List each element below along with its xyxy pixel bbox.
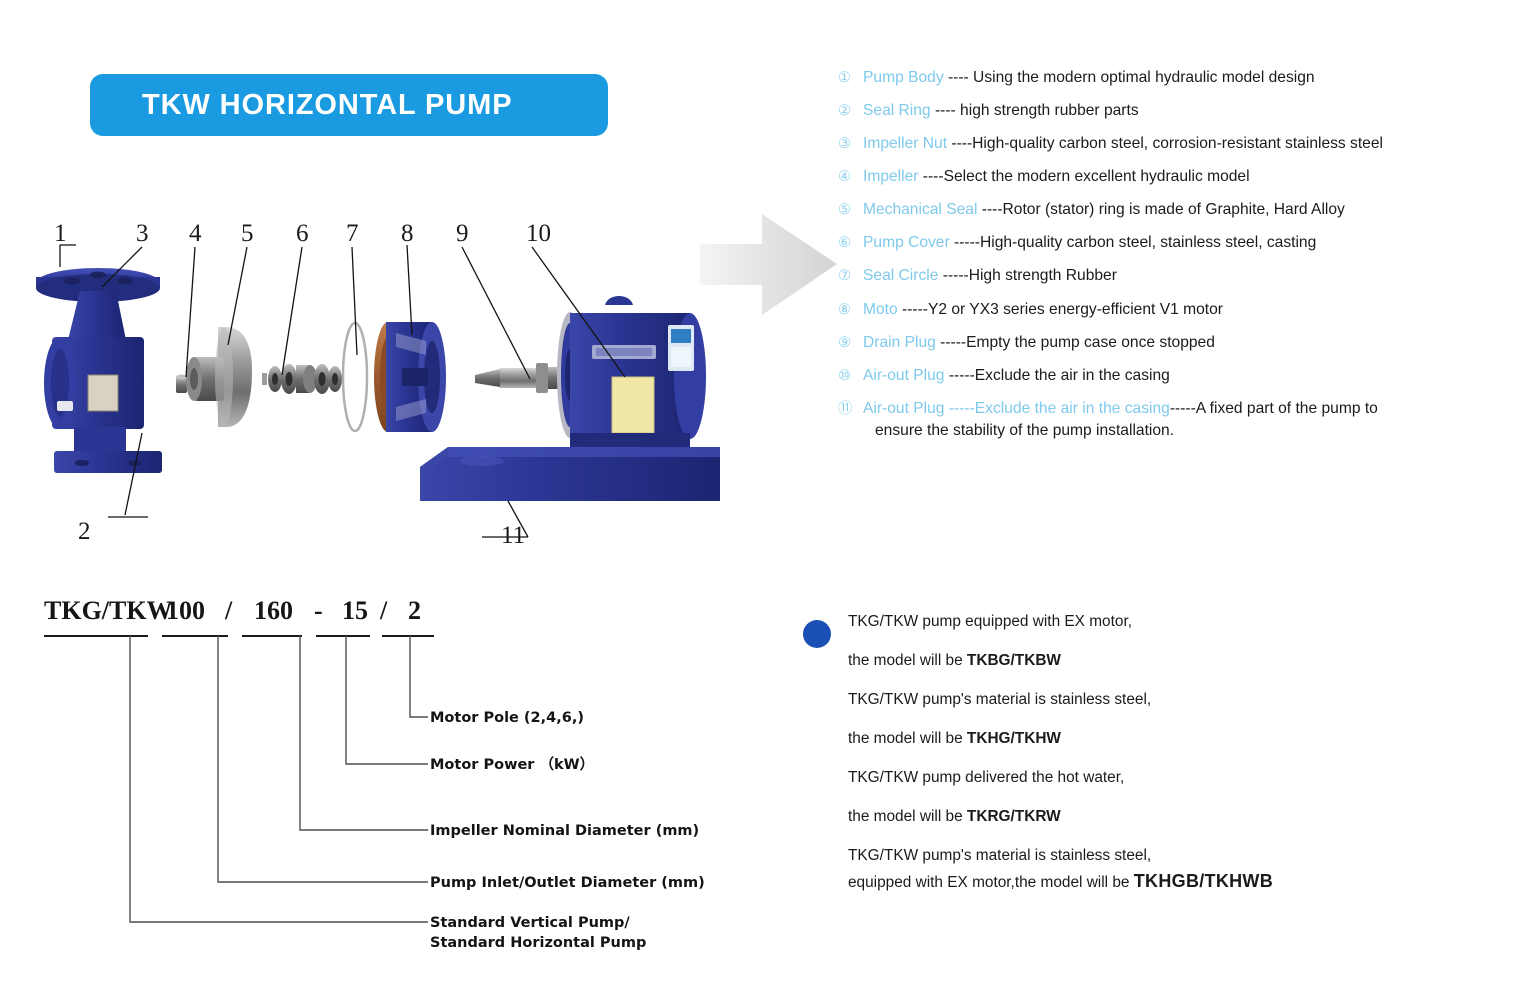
legend-number-1: ① [838,68,863,89]
model-label-impeller-dia: Impeller Nominal Diameter (mm) [430,822,699,841]
legend-part-desc-5: ----Rotor (stator) ring is made of Graph… [977,201,1344,218]
callout-number-5: 5 [241,221,254,246]
shaft-graphic [475,363,568,393]
model-label-motor-power: Motor Power （kW） [430,756,594,775]
legend-number-9: ⑨ [838,333,863,354]
callout-number-7: 7 [346,221,359,246]
model-designation-diagram: TKG/TKW 100 / 160 - 15 / 2 [30,592,730,972]
note-line-3: TKG/TKW pump's material is stainless ste… [848,690,1423,710]
note-model-2: TKBG/TKBW [967,652,1061,669]
legend-part-desc-tinted-11: -----Exclude the air in the casing [944,400,1169,417]
callout-number-3: 3 [136,221,149,246]
pump-body-graphic [36,268,162,473]
callout-number-9: 9 [456,221,469,246]
model-label-inlet-outlet: Pump Inlet/Outlet Diameter (mm) [430,874,705,893]
note-text-7: TKG/TKW pump's material is stainless ste… [848,847,1151,864]
parts-legend-list: ① Pump Body ---- Using the modern optima… [838,68,1498,454]
page-root: TKW HORIZONTAL PUMP [0,0,1513,1000]
legend-part-name-5: Mechanical Seal [863,201,977,218]
impeller-graphic [186,327,252,427]
legend-item-9: ⑨ Drain Plug -----Empty the pump case on… [838,333,1498,354]
legend-item-5: ⑤ Mechanical Seal ----Rotor (stator) rin… [838,200,1498,221]
legend-item-8: ⑧ Moto -----Y2 or YX3 series energy-effi… [838,300,1498,321]
base-plate-graphic [420,447,720,501]
model-label-standard-horizontal: Standard Horizontal Pump [430,934,646,953]
legend-item-7: ⑦ Seal Circle -----High strength Rubber [838,266,1498,287]
legend-number-10: ⑩ [838,366,863,387]
title-banner: TKW HORIZONTAL PUMP [90,74,608,136]
page-title: TKW HORIZONTAL PUMP [90,89,512,122]
pump-illustration [30,205,730,585]
model-variant-notes: TKG/TKW pump equipped with EX motor, the… [803,612,1423,913]
legend-part-name-11: Air-out Plug [863,400,944,417]
note-text-6: the model will be [848,808,967,825]
model-label-motor-pole: Motor Pole (2,4,6,) [430,709,584,728]
note-model-4: TKHG/TKHW [967,730,1061,747]
legend-item-1: ① Pump Body ---- Using the modern optima… [838,68,1498,89]
legend-part-desc-6: -----High-quality carbon steel, stainles… [950,234,1317,251]
right-arrow-icon [700,212,840,317]
legend-item-3: ③ Impeller Nut ----High-quality carbon s… [838,134,1498,155]
note-line-1: TKG/TKW pump equipped with EX motor, [848,612,1423,632]
legend-number-8: ⑧ [838,300,863,321]
legend-part-desc-cont-11: ensure the stability of the pump install… [863,421,1498,442]
callout-number-8: 8 [401,221,414,246]
note-text-4: the model will be [848,730,967,747]
note-text-1: TKG/TKW pump equipped with EX motor, [848,613,1132,630]
callout-number-2: 2 [78,519,91,544]
bullet-dot-icon [803,620,831,648]
note-line-4: the model will be TKHG/TKHW [848,729,1423,749]
callout-number-1: 1 [54,221,67,246]
legend-part-desc-2: ---- high strength rubber parts [931,102,1139,119]
legend-part-name-8: Moto [863,301,898,318]
legend-part-desc-7: -----High strength Rubber [938,267,1117,284]
legend-part-desc-3: ----High-quality carbon steel, corrosion… [947,135,1383,152]
callout-number-4: 4 [189,221,202,246]
legend-number-11: ⑪ [838,399,863,420]
model-label-standard-vertical: Standard Vertical Pump/ [430,914,630,933]
callout-number-11: 11 [501,523,525,548]
note-model-8: TKHGB/TKHWB [1134,871,1273,891]
note-line-7: TKG/TKW pump's material is stainless ste… [848,846,1423,866]
legend-part-name-3: Impeller Nut [863,135,947,152]
legend-item-2: ② Seal Ring ---- high strength rubber pa… [838,101,1498,122]
legend-part-name-9: Drain Plug [863,334,936,351]
legend-number-5: ⑤ [838,200,863,221]
note-line-2: the model will be TKBG/TKBW [848,651,1423,671]
note-model-6: TKRG/TKRW [967,808,1061,825]
legend-part-name-7: Seal Circle [863,267,938,284]
legend-number-6: ⑥ [838,233,863,254]
legend-number-7: ⑦ [838,266,863,287]
legend-part-name-1: Pump Body [863,69,944,86]
legend-part-name-10: Air-out Plug [863,367,944,384]
legend-part-desc-8: -----Y2 or YX3 series energy-efficient V… [898,301,1223,318]
legend-item-11: ⑪ Air-out Plug -----Exclude the air in t… [838,399,1498,442]
note-text-3: TKG/TKW pump's material is stainless ste… [848,691,1151,708]
exploded-pump-diagram: 1 2 3 4 5 6 7 8 9 10 11 [30,205,730,585]
callout-number-6: 6 [296,221,309,246]
legend-item-6: ⑥ Pump Cover -----High-quality carbon st… [838,233,1498,254]
mechanical-seal-graphic [262,364,342,394]
legend-part-desc-11: -----A fixed part of the pump to [1170,400,1378,417]
legend-number-2: ② [838,101,863,122]
legend-item-4: ④ Impeller ----Select the modern excelle… [838,167,1498,188]
callout-number-10: 10 [526,221,551,246]
note-text-2: the model will be [848,652,967,669]
legend-part-desc-9: -----Empty the pump case once stopped [936,334,1215,351]
motor-graphic [557,296,706,457]
impeller-nut-graphic [176,375,187,394]
legend-part-name-4: Impeller [863,168,918,185]
legend-part-name-2: Seal Ring [863,102,931,119]
note-line-5: TKG/TKW pump delivered the hot water, [848,768,1423,788]
note-line-6: the model will be TKRG/TKRW [848,807,1423,827]
note-line-8: equipped with EX motor,the model will be… [848,870,1423,893]
legend-number-4: ④ [838,167,863,188]
legend-number-3: ③ [838,134,863,155]
note-text-8: equipped with EX motor,the model will be [848,874,1134,891]
legend-part-name-6: Pump Cover [863,234,950,251]
legend-part-desc-4: ----Select the modern excellent hydrauli… [918,168,1249,185]
legend-part-desc-1: ---- Using the modern optimal hydraulic … [944,69,1315,86]
seal-circle-graphic [343,323,367,431]
note-text-5: TKG/TKW pump delivered the hot water, [848,769,1124,786]
legend-item-10: ⑩ Air-out Plug -----Exclude the air in t… [838,366,1498,387]
legend-part-desc-10: -----Exclude the air in the casing [944,367,1169,384]
pump-cover-graphic [374,322,446,432]
